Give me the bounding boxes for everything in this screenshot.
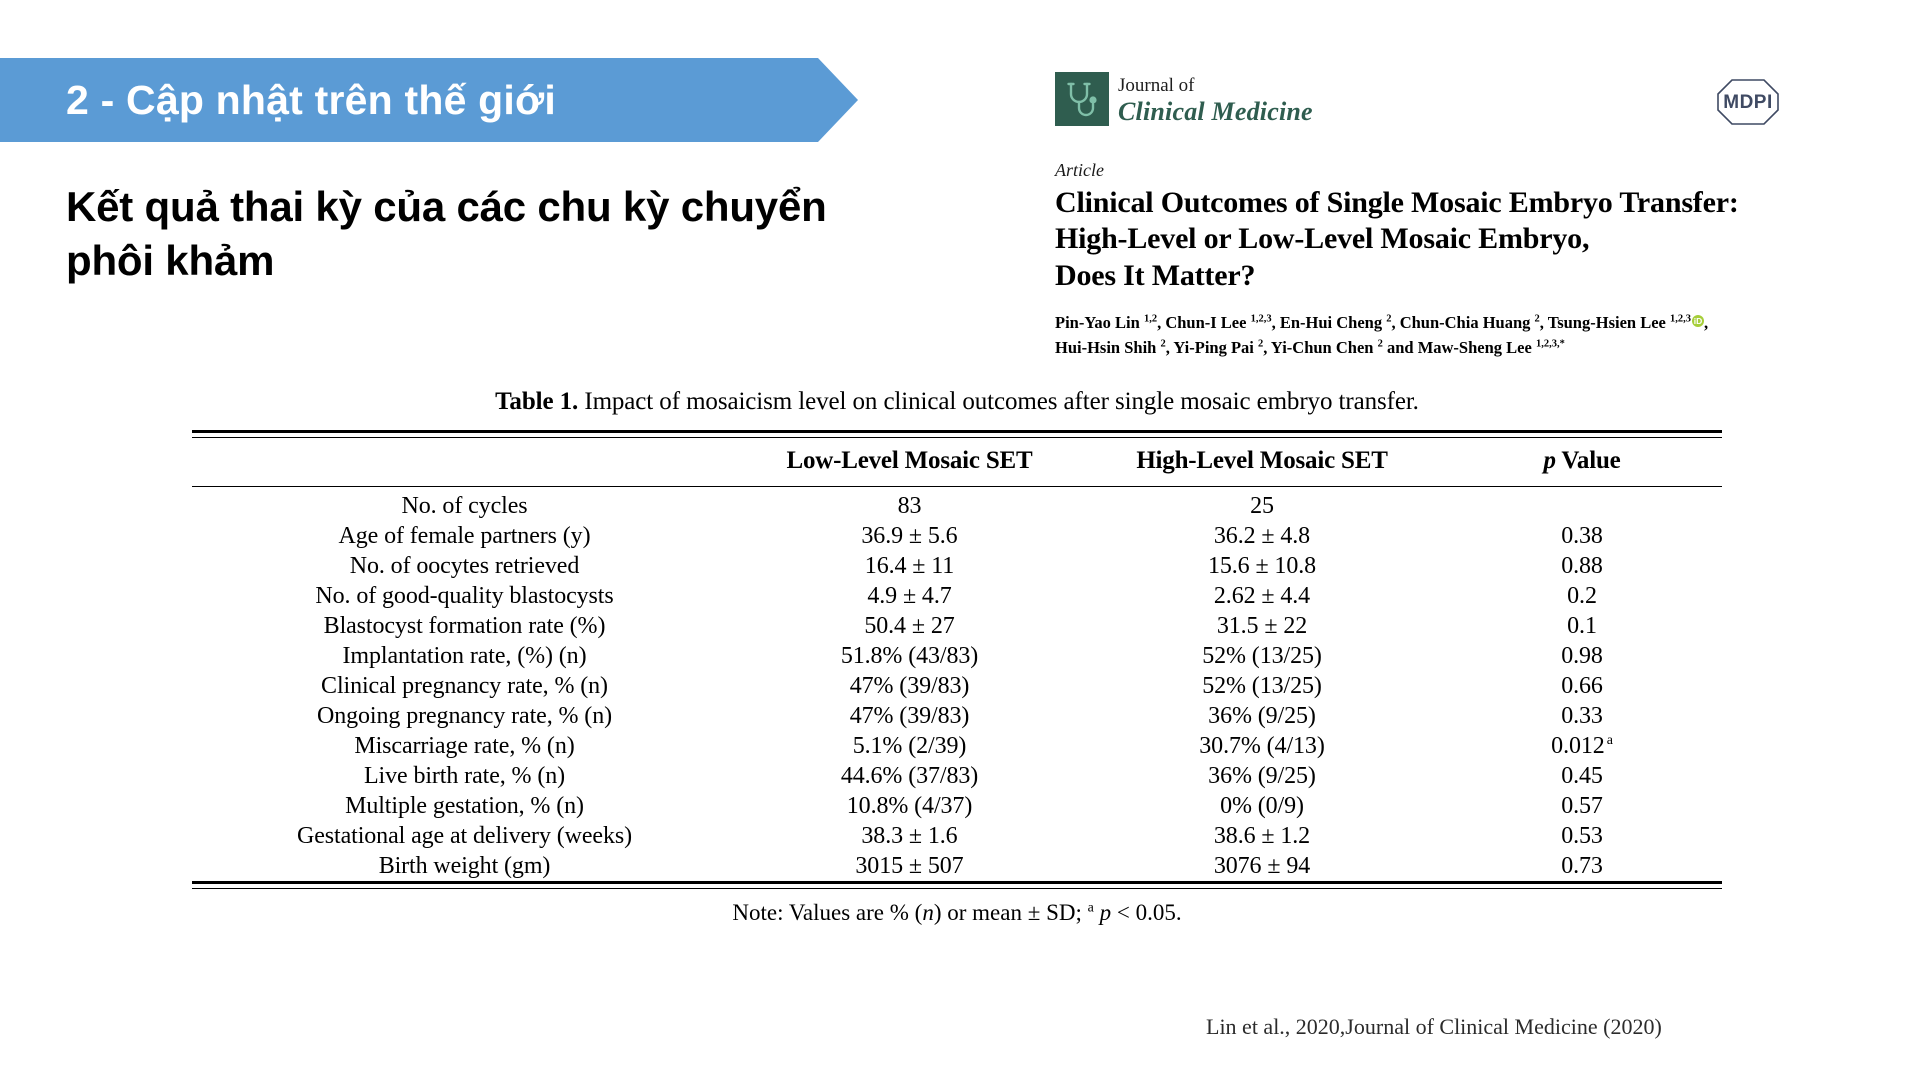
cell-metric-label: Birth weight (gm) bbox=[192, 851, 737, 883]
cell-p-value: 0.33 bbox=[1442, 701, 1722, 731]
author-name: Yi-Ping Pai bbox=[1173, 338, 1258, 357]
cell-metric-label: Ongoing pregnancy rate, % (n) bbox=[192, 701, 737, 731]
cell-high-level: 31.5 ± 22 bbox=[1082, 611, 1442, 641]
cell-low-level: 83 bbox=[737, 491, 1082, 521]
cell-low-level: 4.9 ± 4.7 bbox=[737, 581, 1082, 611]
article-title-line-2: High-Level or Low-Level Mosaic Embryo, bbox=[1055, 221, 1795, 257]
cell-metric-label: Live birth rate, % (n) bbox=[192, 761, 737, 791]
cell-p-value: 0.1 bbox=[1442, 611, 1722, 641]
table-row: Multiple gestation, % (n)10.8% (4/37)0% … bbox=[192, 791, 1722, 821]
cell-metric-label: Miscarriage rate, % (n) bbox=[192, 731, 737, 761]
cell-low-level: 10.8% (4/37) bbox=[737, 791, 1082, 821]
table-body: No. of cycles8325Age of female partners … bbox=[192, 491, 1722, 883]
table-row: No. of cycles8325 bbox=[192, 491, 1722, 521]
cell-high-level: 52% (13/25) bbox=[1082, 671, 1442, 701]
column-header-p-value: p Value bbox=[1442, 438, 1722, 487]
author-affiliation-sup: 1,2,3 bbox=[1670, 313, 1691, 324]
outcomes-table: Low-Level Mosaic SET High-Level Mosaic S… bbox=[192, 430, 1722, 889]
table-row: Miscarriage rate, % (n)5.1% (2/39)30.7% … bbox=[192, 731, 1722, 761]
article-type-label: Article bbox=[1055, 160, 1795, 181]
article-title-line-3: Does It Matter? bbox=[1055, 258, 1795, 294]
cell-metric-label: No. of oocytes retrieved bbox=[192, 551, 737, 581]
cell-metric-label: No. of good-quality blastocysts bbox=[192, 581, 737, 611]
cell-high-level: 38.6 ± 1.2 bbox=[1082, 821, 1442, 851]
author-separator: , bbox=[1263, 338, 1271, 357]
results-table-block: Table 1. Impact of mosaicism level on cl… bbox=[192, 388, 1722, 926]
article-title: Clinical Outcomes of Single Mosaic Embry… bbox=[1055, 185, 1795, 294]
svg-text:MDPI: MDPI bbox=[1723, 92, 1773, 113]
author-name: Chun-Chia Huang bbox=[1400, 313, 1535, 332]
cell-low-level: 36.9 ± 5.6 bbox=[737, 521, 1082, 551]
column-header-metric bbox=[192, 438, 737, 487]
journal-wordmark: Journal of Clinical Medicine bbox=[1118, 72, 1313, 127]
column-header-low-level: Low-Level Mosaic SET bbox=[737, 438, 1082, 487]
table-caption-text: Impact of mosaicism level on clinical ou… bbox=[578, 388, 1419, 415]
cell-low-level: 50.4 ± 27 bbox=[737, 611, 1082, 641]
mdpi-logo: MDPI bbox=[1702, 74, 1794, 130]
cell-high-level: 36% (9/25) bbox=[1082, 701, 1442, 731]
section-banner: 2 - Cập nhật trên thế giới bbox=[0, 58, 858, 142]
cell-metric-label: Blastocyst formation rate (%) bbox=[192, 611, 737, 641]
cell-p-value: 0.012a bbox=[1442, 731, 1722, 761]
cell-p-value: 0.45 bbox=[1442, 761, 1722, 791]
cell-low-level: 47% (39/83) bbox=[737, 701, 1082, 731]
cell-low-level: 3015 ± 507 bbox=[737, 851, 1082, 883]
author-separator: , bbox=[1272, 313, 1280, 332]
journal-name-label: Clinical Medicine bbox=[1118, 97, 1313, 127]
journal-of-label: Journal of bbox=[1118, 76, 1313, 97]
cell-high-level: 15.6 ± 10.8 bbox=[1082, 551, 1442, 581]
author-name: Maw-Sheng Lee bbox=[1418, 338, 1536, 357]
journal-article-header: Journal of Clinical Medicine MDPI Articl… bbox=[1055, 72, 1795, 360]
cell-metric-label: Implantation rate, (%) (n) bbox=[192, 641, 737, 671]
p-italic: p bbox=[1543, 447, 1555, 474]
cell-metric-label: Age of female partners (y) bbox=[192, 521, 737, 551]
author-separator: , bbox=[1704, 313, 1708, 332]
table-row: Blastocyst formation rate (%)50.4 ± 2731… bbox=[192, 611, 1722, 641]
p-value-footnote-marker: a bbox=[1605, 733, 1613, 748]
author-affiliation-sup: 1,2,3,* bbox=[1536, 338, 1565, 349]
orcid-icon[interactable]: iD bbox=[1692, 315, 1704, 327]
author-name: Tsung-Hsien Lee bbox=[1548, 313, 1670, 332]
author-separator: , bbox=[1391, 313, 1399, 332]
note-prefix: Note: Values are % ( bbox=[732, 900, 922, 925]
table-header-row: Low-Level Mosaic SET High-Level Mosaic S… bbox=[192, 438, 1722, 487]
table-row: Clinical pregnancy rate, % (n)47% (39/83… bbox=[192, 671, 1722, 701]
p-value-word: Value bbox=[1556, 447, 1621, 474]
table-row: No. of good-quality blastocysts4.9 ± 4.7… bbox=[192, 581, 1722, 611]
note-italic-n: n bbox=[922, 900, 934, 925]
author-separator: , bbox=[1540, 313, 1548, 332]
note-italic-p: p bbox=[1094, 900, 1111, 925]
cell-metric-label: Clinical pregnancy rate, % (n) bbox=[192, 671, 737, 701]
note-suffix: < 0.05. bbox=[1111, 900, 1181, 925]
source-citation: Lin et al., 2020,Journal of Clinical Med… bbox=[1206, 1014, 1662, 1040]
author-affiliation-sup: 1,2 bbox=[1144, 313, 1157, 324]
table-row: Gestational age at delivery (weeks)38.3 … bbox=[192, 821, 1722, 851]
table-rule-bottom bbox=[192, 883, 1722, 889]
cell-high-level: 25 bbox=[1082, 491, 1442, 521]
author-name: Yi-Chun Chen bbox=[1271, 338, 1378, 357]
author-line-2: Hui-Hsin Shih 2, Yi-Ping Pai 2, Yi-Chun … bbox=[1055, 335, 1795, 360]
cell-p-value: 0.53 bbox=[1442, 821, 1722, 851]
section-banner-label: 2 - Cập nhật trên thế giới bbox=[0, 77, 556, 124]
table-caption: Table 1. Impact of mosaicism level on cl… bbox=[192, 388, 1722, 416]
cell-p-value: 0.98 bbox=[1442, 641, 1722, 671]
cell-high-level: 36% (9/25) bbox=[1082, 761, 1442, 791]
journal-branding: Journal of Clinical Medicine bbox=[1055, 72, 1795, 128]
table-foot bbox=[192, 883, 1722, 889]
table-row: Birth weight (gm)3015 ± 5073076 ± 940.73 bbox=[192, 851, 1722, 883]
cell-metric-label: Gestational age at delivery (weeks) bbox=[192, 821, 737, 851]
cell-low-level: 44.6% (37/83) bbox=[737, 761, 1082, 791]
cell-high-level: 30.7% (4/13) bbox=[1082, 731, 1442, 761]
table-head: Low-Level Mosaic SET High-Level Mosaic S… bbox=[192, 432, 1722, 492]
author-name: En-Hui Cheng bbox=[1280, 313, 1386, 332]
cell-high-level: 0% (0/9) bbox=[1082, 791, 1442, 821]
cell-low-level: 5.1% (2/39) bbox=[737, 731, 1082, 761]
cell-low-level: 51.8% (43/83) bbox=[737, 641, 1082, 671]
cell-p-value: 0.66 bbox=[1442, 671, 1722, 701]
cell-p-value: 0.2 bbox=[1442, 581, 1722, 611]
cell-p-value: 0.73 bbox=[1442, 851, 1722, 883]
author-name: Chun-I Lee bbox=[1165, 313, 1250, 332]
cell-low-level: 38.3 ± 1.6 bbox=[737, 821, 1082, 851]
cell-metric-label: Multiple gestation, % (n) bbox=[192, 791, 737, 821]
stethoscope-icon bbox=[1055, 72, 1109, 126]
cell-p-value: 0.88 bbox=[1442, 551, 1722, 581]
author-name: Pin-Yao Lin bbox=[1055, 313, 1144, 332]
table-row: Age of female partners (y)36.9 ± 5.636.2… bbox=[192, 521, 1722, 551]
table-row: Implantation rate, (%) (n)51.8% (43/83)5… bbox=[192, 641, 1722, 671]
cell-p-value: 0.38 bbox=[1442, 521, 1722, 551]
author-affiliation-sup: 1,2,3 bbox=[1251, 313, 1272, 324]
cell-low-level: 16.4 ± 11 bbox=[737, 551, 1082, 581]
article-title-line-1: Clinical Outcomes of Single Mosaic Embry… bbox=[1055, 185, 1795, 221]
table-caption-label: Table 1. bbox=[495, 388, 578, 415]
cell-high-level: 36.2 ± 4.8 bbox=[1082, 521, 1442, 551]
cell-p-value bbox=[1442, 491, 1722, 521]
cell-low-level: 47% (39/83) bbox=[737, 671, 1082, 701]
note-mid: ) or mean ± SD; bbox=[934, 900, 1088, 925]
column-header-high-level: High-Level Mosaic SET bbox=[1082, 438, 1442, 487]
table-row: Ongoing pregnancy rate, % (n)47% (39/83)… bbox=[192, 701, 1722, 731]
cell-metric-label: No. of cycles bbox=[192, 491, 737, 521]
table-row: Live birth rate, % (n)44.6% (37/83)36% (… bbox=[192, 761, 1722, 791]
author-line-1: Pin-Yao Lin 1,2, Chun-I Lee 1,2,3, En-Hu… bbox=[1055, 310, 1795, 335]
author-name: Hui-Hsin Shih bbox=[1055, 338, 1160, 357]
cell-high-level: 3076 ± 94 bbox=[1082, 851, 1442, 883]
author-separator: and bbox=[1383, 338, 1418, 357]
cell-p-value: 0.57 bbox=[1442, 791, 1722, 821]
article-author-list: Pin-Yao Lin 1,2, Chun-I Lee 1,2,3, En-Hu… bbox=[1055, 310, 1795, 360]
table-note: Note: Values are % (n) or mean ± SD; a p… bbox=[192, 900, 1722, 926]
cell-high-level: 2.62 ± 4.4 bbox=[1082, 581, 1442, 611]
cell-high-level: 52% (13/25) bbox=[1082, 641, 1442, 671]
page-title: Kết quả thai kỳ của các chu kỳ chuyển ph… bbox=[66, 180, 906, 288]
table-row: No. of oocytes retrieved16.4 ± 1115.6 ± … bbox=[192, 551, 1722, 581]
